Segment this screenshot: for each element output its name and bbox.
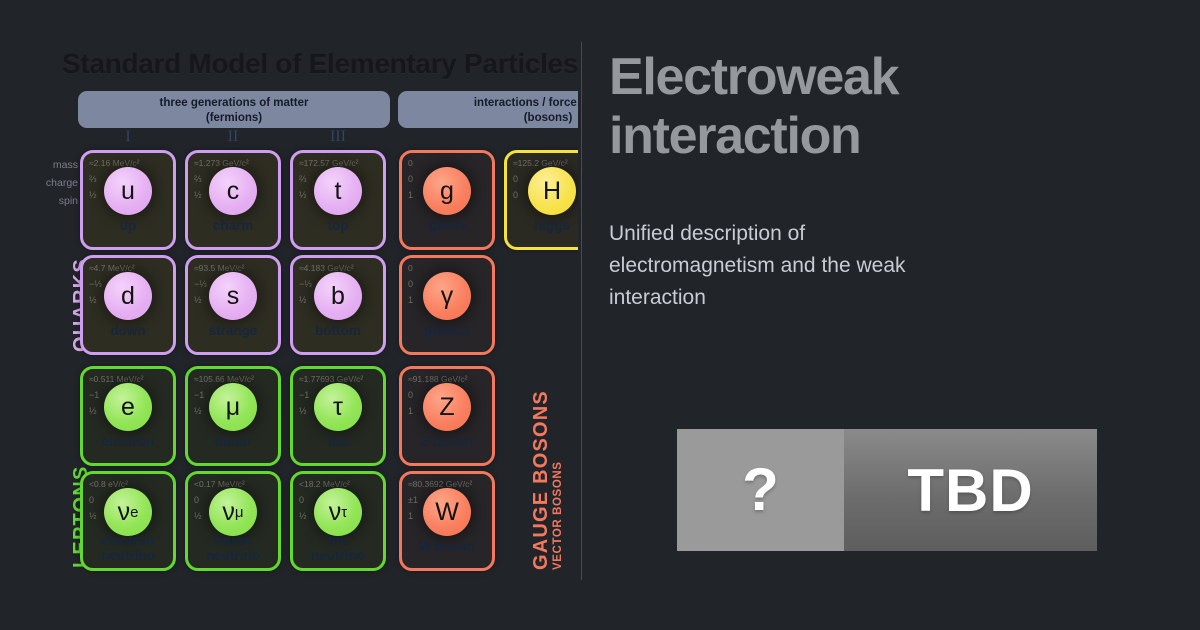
particle-charge-gluon: 0	[408, 174, 413, 184]
particle-symbol-higgs: H	[528, 167, 576, 215]
particle-cell-zboson[interactable]: ≈91.188 GeV/c²01ZZ boson	[399, 366, 495, 466]
particle-name-charm: charm	[188, 219, 278, 234]
particle-name-muon-neutrino: muonneutrino	[188, 534, 278, 563]
particle-name-higgs: higgs	[507, 219, 578, 234]
particle-spin-top: ½	[299, 190, 307, 200]
generation-numeral-1: I	[108, 128, 148, 146]
particle-name-wboson: W boson	[402, 540, 492, 555]
particle-spin-higgs: 0	[513, 190, 518, 200]
particle-name-electron: electron	[83, 435, 173, 450]
particle-spin-electron: ½	[89, 406, 97, 416]
particle-spin-charm: ½	[194, 190, 202, 200]
particle-charge-strange: −⅓	[194, 279, 207, 289]
particle-charge-charm: ⅔	[194, 174, 202, 184]
particle-symbol-electron-neutrino: νe	[104, 488, 152, 536]
particle-cell-bottom[interactable]: ≈4.183 GeV/c²−⅓½bbottom	[290, 255, 386, 355]
particle-cell-top[interactable]: ≈172.57 GeV/c²⅔½ttop	[290, 150, 386, 250]
group-header-fermions: three generations of matter (fermions)	[78, 91, 390, 128]
particle-charge-tau-neutrino: 0	[299, 495, 304, 505]
particle-charge-muon-neutrino: 0	[194, 495, 199, 505]
particle-charge-photon: 0	[408, 279, 413, 289]
standard-model-figure-panel: Standard Model of Elementary Particles t…	[0, 0, 578, 630]
info-panel: Electroweak interaction Unified descript…	[609, 0, 1169, 630]
particle-cell-up[interactable]: ≈2.16 MeV/c²⅔½uup	[80, 150, 176, 250]
particle-cell-tau-neutrino[interactable]: <18.2 MeV/c²0½ντtauneutrino	[290, 471, 386, 571]
particle-name-electron-neutrino: electronneutrino	[83, 534, 173, 563]
particle-charge-electron: −1	[89, 390, 99, 400]
generation-numeral-3: III	[318, 128, 358, 146]
particle-cell-strange[interactable]: ≈93.5 MeV/c²−⅓½sstrange	[185, 255, 281, 355]
particle-charge-tau: −1	[299, 390, 309, 400]
particle-symbol-subscript-muon-neutrino: μ	[235, 504, 244, 521]
particle-spin-bottom: ½	[299, 295, 307, 305]
particle-symbol-muon-neutrino: νμ	[209, 488, 257, 536]
particle-charge-zboson: 0	[408, 390, 413, 400]
particle-symbol-wboson: W	[423, 488, 471, 536]
particle-spin-strange: ½	[194, 295, 202, 305]
particle-charge-top: ⅔	[299, 174, 307, 184]
tbd-card: ? TBD	[677, 429, 1097, 551]
particle-name-bottom: bottom	[293, 324, 383, 339]
particle-cell-higgs[interactable]: ≈125.2 GeV/c²00Hhiggs	[504, 150, 578, 250]
generation-numeral-2: II	[213, 128, 253, 146]
tbd-label-panel: TBD	[844, 429, 1097, 551]
particle-symbol-muon: μ	[209, 383, 257, 431]
page-subtitle: Unified description of electromagnetism …	[609, 218, 969, 314]
particle-charge-up: ⅔	[89, 174, 97, 184]
particle-cell-charm[interactable]: ≈1.273 GeV/c²⅔½ccharm	[185, 150, 281, 250]
row-key-spin: spin	[6, 195, 78, 207]
group-header-bosons-line1: interactions / force carriers	[398, 96, 578, 111]
row-key-legend: mass charge spin	[0, 155, 78, 215]
particle-name-down: down	[83, 324, 173, 339]
particle-symbol-tau: τ	[314, 383, 362, 431]
particle-symbol-zboson: Z	[423, 383, 471, 431]
particle-mass-electron-neutrino: <0.8 eV/c²	[89, 479, 128, 489]
particle-symbol-bottom: b	[314, 272, 362, 320]
axis-label-gauge-bosons: GAUGE BOSONS	[530, 390, 553, 570]
particle-symbol-tau-neutrino: ντ	[314, 488, 362, 536]
particle-charge-electron-neutrino: 0	[89, 495, 94, 505]
particle-spin-up: ½	[89, 190, 97, 200]
particle-symbol-top: t	[314, 167, 362, 215]
particle-cell-electron-neutrino[interactable]: <0.8 eV/c²0½νeelectronneutrino	[80, 471, 176, 571]
question-mark-icon: ?	[742, 460, 779, 520]
group-header-bosons: interactions / force carriers (bosons)	[398, 91, 578, 128]
particle-mass-muon: ≈105.66 MeV/c²	[194, 374, 254, 384]
tbd-label: TBD	[907, 456, 1033, 525]
particle-cell-down[interactable]: ≈4.7 MeV/c²−⅓½ddown	[80, 255, 176, 355]
particle-cell-muon-neutrino[interactable]: <0.17 MeV/c²0½νμmuonneutrino	[185, 471, 281, 571]
figure-title: Standard Model of Elementary Particles	[62, 48, 578, 80]
particle-cell-electron[interactable]: ≈0.511 MeV/c²−1½eelectron	[80, 366, 176, 466]
particle-spin-tau: ½	[299, 406, 307, 416]
particle-symbol-subscript-tau-neutrino: τ	[341, 504, 347, 521]
group-header-fermions-line1: three generations of matter	[78, 96, 390, 111]
particle-name-strange: strange	[188, 324, 278, 339]
particle-symbol-subscript-electron-neutrino: e	[130, 504, 138, 521]
page-root: Standard Model of Elementary Particles t…	[0, 0, 1200, 630]
particle-mass-photon: 0	[408, 263, 413, 273]
particle-mass-tau: ≈1.77693 GeV/c²	[299, 374, 363, 384]
tbd-question-panel: ?	[677, 429, 844, 551]
particle-mass-bottom: ≈4.183 GeV/c²	[299, 263, 354, 273]
particle-symbol-photon: γ	[423, 272, 471, 320]
particle-cell-tau[interactable]: ≈1.77693 GeV/c²−1½τtau	[290, 366, 386, 466]
particle-spin-photon: 1	[408, 295, 413, 305]
particle-symbol-charm: c	[209, 167, 257, 215]
particle-name-top: top	[293, 219, 383, 234]
particle-cell-muon[interactable]: ≈105.66 MeV/c²−1½μmuon	[185, 366, 281, 466]
particle-cell-gluon[interactable]: 001ggluon	[399, 150, 495, 250]
particle-symbol-up: u	[104, 167, 152, 215]
particle-spin-wboson: 1	[408, 511, 413, 521]
particle-mass-charm: ≈1.273 GeV/c²	[194, 158, 249, 168]
particle-charge-bottom: −⅓	[299, 279, 312, 289]
particle-name-photon: photon	[402, 324, 492, 339]
group-header-bosons-line2: (bosons)	[398, 111, 578, 126]
particle-spin-electron-neutrino: ½	[89, 511, 97, 521]
particle-symbol-electron: e	[104, 383, 152, 431]
particle-mass-electron: ≈0.511 MeV/c²	[89, 374, 144, 384]
group-header-fermions-line2: (fermions)	[78, 111, 390, 126]
particle-spin-zboson: 1	[408, 406, 413, 416]
particle-spin-down: ½	[89, 295, 97, 305]
particle-spin-muon-neutrino: ½	[194, 511, 202, 521]
particle-charge-wboson: ±1	[408, 495, 418, 505]
particle-symbol-gluon: g	[423, 167, 471, 215]
particle-name-tau-neutrino: tauneutrino	[293, 534, 383, 563]
particle-charge-down: −⅓	[89, 279, 102, 289]
particle-cell-wboson[interactable]: ≈80.3692 GeV/c²±11WW boson	[399, 471, 495, 571]
particle-mass-higgs: ≈125.2 GeV/c²	[513, 158, 568, 168]
particle-name-gluon: gluon	[402, 219, 492, 234]
particle-spin-muon: ½	[194, 406, 202, 416]
page-title: Electroweak interaction	[609, 48, 1129, 166]
particle-name-up: up	[83, 219, 173, 234]
particle-charge-higgs: 0	[513, 174, 518, 184]
particle-symbol-strange: s	[209, 272, 257, 320]
particle-symbol-down: d	[104, 272, 152, 320]
row-key-charge: charge	[6, 177, 78, 189]
standard-model-figure: Standard Model of Elementary Particles t…	[0, 0, 578, 630]
particle-spin-tau-neutrino: ½	[299, 511, 307, 521]
particle-cell-photon[interactable]: 001γphoton	[399, 255, 495, 355]
particle-mass-top: ≈172.57 GeV/c²	[299, 158, 358, 168]
particle-mass-gluon: 0	[408, 158, 413, 168]
particle-mass-zboson: ≈91.188 GeV/c²	[408, 374, 467, 384]
panel-divider	[581, 42, 582, 580]
particle-name-zboson: Z boson	[402, 435, 492, 450]
particle-spin-gluon: 1	[408, 190, 413, 200]
particle-name-tau: tau	[293, 435, 383, 450]
axis-label-vector-bosons: VECTOR BOSONS	[552, 461, 564, 570]
particle-name-muon: muon	[188, 435, 278, 450]
particle-charge-muon: −1	[194, 390, 204, 400]
row-key-mass: mass	[6, 159, 78, 171]
particle-mass-wboson: ≈80.3692 GeV/c²	[408, 479, 472, 489]
